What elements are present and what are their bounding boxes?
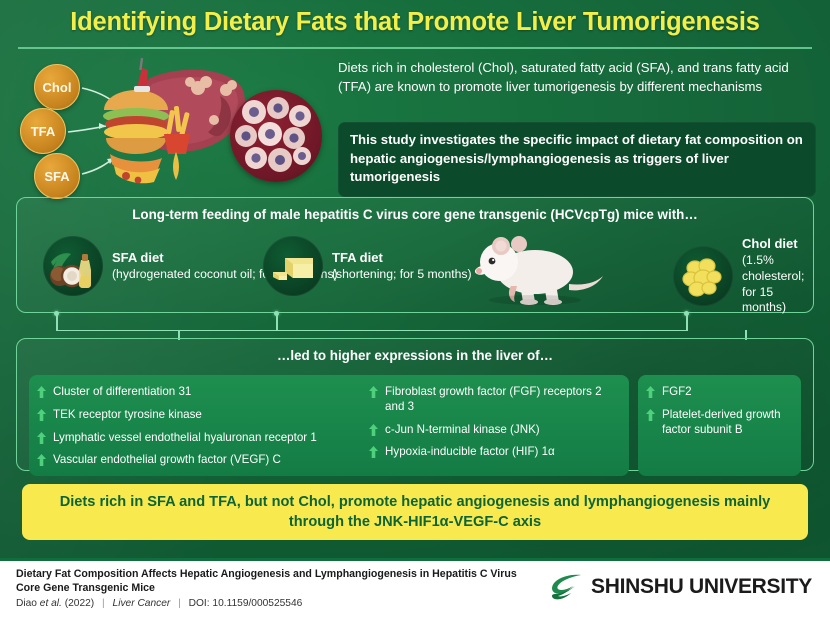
shinshu-wing-logo-icon bbox=[549, 572, 583, 602]
list-item-label: Vascular endothelial growth factor (VEGF… bbox=[53, 453, 281, 468]
expr-column-2: Fibroblast growth factor (FGF) receptors… bbox=[369, 385, 621, 468]
citation-authors: Diao bbox=[16, 598, 37, 609]
list-item-label: Fibroblast growth factor (FGF) receptors… bbox=[385, 385, 621, 415]
cholesterol-crystal-icon bbox=[673, 246, 733, 306]
up-arrow-icon bbox=[37, 454, 46, 466]
up-arrow-icon bbox=[37, 432, 46, 444]
citation-etal: et al. bbox=[40, 598, 62, 609]
list-item: Fibroblast growth factor (FGF) receptors… bbox=[369, 385, 621, 415]
connector-line-chol bbox=[686, 315, 688, 331]
university-logo: SHINSHU UNIVERSITY bbox=[549, 572, 812, 602]
expression-card-main: Cluster of differentiation 31 TEK recept… bbox=[29, 375, 629, 476]
up-arrow-icon bbox=[646, 386, 655, 398]
title-divider bbox=[18, 47, 812, 49]
list-item-label: TEK receptor tyrosine kinase bbox=[53, 408, 202, 423]
chol-tag: Chol bbox=[34, 64, 80, 110]
connector-line-sfa bbox=[56, 315, 58, 331]
feeding-heading: Long-term feeding of male hepatitis C vi… bbox=[17, 207, 813, 222]
fatty-liver-burger-illustration bbox=[90, 58, 250, 196]
chol-diet-title: Chol diet bbox=[742, 236, 798, 251]
connector-bus bbox=[57, 330, 687, 331]
up-arrow-icon bbox=[369, 446, 378, 458]
up-arrow-icon bbox=[37, 386, 46, 398]
expressions-heading: …led to higher expressions in the liver … bbox=[17, 348, 813, 363]
list-item-label: Platelet-derived growth factor subunit B bbox=[662, 408, 793, 438]
feeding-panel: Long-term feeding of male hepatitis C vi… bbox=[16, 197, 814, 313]
expression-cards: Cluster of differentiation 31 TEK recept… bbox=[29, 375, 801, 476]
list-item-label: c-Jun N-terminal kinase (JNK) bbox=[385, 423, 540, 438]
expr-column-1: Cluster of differentiation 31 TEK recept… bbox=[37, 385, 363, 468]
chol-diet-detail: (1.5% cholesterol; for 15 months) bbox=[742, 253, 804, 315]
chol-diet-item: Chol diet (1.5% cholesterol; for 15 mont… bbox=[673, 236, 813, 316]
footer: Dietary Fat Composition Affects Hepatic … bbox=[0, 558, 830, 623]
background-text: Diets rich in cholesterol (Chol), satura… bbox=[338, 59, 816, 96]
study-aim-text: This study investigates the specific imp… bbox=[350, 132, 803, 184]
citation-meta: Diao et al. (2022) | Liver Cancer | DOI:… bbox=[16, 598, 302, 609]
citation-separator-2: | bbox=[173, 598, 186, 609]
tfa-diet-text: TFA diet (shortening; for 5 months) bbox=[332, 250, 472, 283]
paper-title: Dietary Fat Composition Affects Hepatic … bbox=[16, 568, 536, 596]
list-item: Vascular endothelial growth factor (VEGF… bbox=[37, 453, 363, 468]
page-title: Identifying Dietary Fats that Promote Li… bbox=[0, 8, 830, 37]
tfa-diet-title: TFA diet bbox=[332, 250, 383, 265]
citation-year: (2022) bbox=[65, 598, 94, 609]
list-item-label: FGF2 bbox=[662, 385, 692, 400]
sfa-diet-title: SFA diet bbox=[112, 250, 164, 265]
tfa-diet-detail: (shortening; for 5 months) bbox=[332, 267, 472, 281]
list-item: Cluster of differentiation 31 bbox=[37, 385, 363, 400]
up-arrow-icon bbox=[369, 386, 378, 398]
list-item: c-Jun N-terminal kinase (JNK) bbox=[369, 423, 621, 438]
study-aim-callout: This study investigates the specific imp… bbox=[338, 122, 816, 197]
shortening-block-icon bbox=[263, 236, 323, 296]
university-logo-text: SHINSHU UNIVERSITY bbox=[591, 575, 812, 599]
hero-illustration: Chol TFA SFA bbox=[12, 56, 330, 198]
connector-line-tfa bbox=[276, 315, 278, 331]
infographic-poster: Identifying Dietary Fats that Promote Li… bbox=[0, 0, 830, 623]
up-arrow-icon bbox=[37, 409, 46, 421]
list-item-label: Hypoxia-inducible factor (HIF) 1α bbox=[385, 445, 555, 460]
tfa-tag: TFA bbox=[20, 108, 66, 154]
list-item: TEK receptor tyrosine kinase bbox=[37, 408, 363, 423]
laboratory-mouse-illustration bbox=[457, 228, 607, 308]
tfa-tag-label: TFA bbox=[31, 124, 56, 139]
tfa-diet-item: TFA diet (shortening; for 5 months) bbox=[263, 236, 472, 296]
footer-divider bbox=[0, 558, 830, 561]
expressions-panel: …led to higher expressions in the liver … bbox=[16, 338, 814, 471]
conclusion-text: Diets rich in SFA and TFA, but not Chol,… bbox=[48, 492, 782, 532]
sfa-tag: SFA bbox=[34, 153, 80, 199]
list-item: Hypoxia-inducible factor (HIF) 1α bbox=[369, 445, 621, 460]
expr-column-3: FGF2 Platelet-derived growth factor subu… bbox=[646, 385, 793, 437]
list-item: Lymphatic vessel endothelial hyaluronan … bbox=[37, 431, 363, 446]
liver-cell-micrograph bbox=[230, 90, 322, 182]
expression-card-side: FGF2 Platelet-derived growth factor subu… bbox=[638, 375, 801, 476]
chol-diet-text: Chol diet (1.5% cholesterol; for 15 mont… bbox=[742, 236, 813, 316]
sfa-tag-label: SFA bbox=[44, 169, 69, 184]
list-item: Platelet-derived growth factor subunit B bbox=[646, 408, 793, 438]
coconut-oil-icon bbox=[43, 236, 103, 296]
citation-journal: Liver Cancer bbox=[113, 598, 171, 609]
citation-doi: DOI: 10.1159/000525546 bbox=[189, 598, 303, 609]
up-arrow-icon bbox=[646, 409, 655, 421]
list-item: FGF2 bbox=[646, 385, 793, 400]
up-arrow-icon bbox=[369, 424, 378, 436]
conclusion-banner: Diets rich in SFA and TFA, but not Chol,… bbox=[22, 484, 808, 540]
list-item-label: Cluster of differentiation 31 bbox=[53, 385, 191, 400]
citation-separator-1: | bbox=[97, 598, 110, 609]
list-item-label: Lymphatic vessel endothelial hyaluronan … bbox=[53, 431, 317, 446]
chol-tag-label: Chol bbox=[43, 80, 72, 95]
